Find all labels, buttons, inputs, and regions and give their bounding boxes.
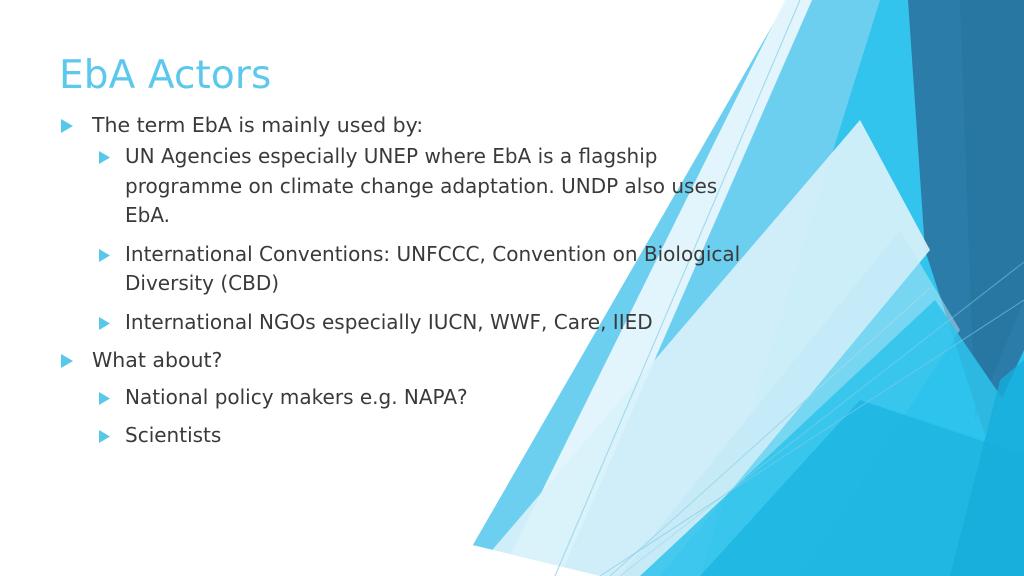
triangle-right-icon [61,119,75,133]
bullet-text: International NGOs especially IUCN, WWF,… [125,308,653,338]
slide-content: EbA Actors The term EbA is mainly used b… [0,0,790,576]
bullet-text: International Conventions: UNFCCC, Conve… [125,240,750,299]
triangle-right-icon [99,430,111,443]
shard-steel-dark-strip [960,0,1024,420]
bullet-item-level2: International NGOs especially IUCN, WWF,… [0,308,790,338]
slide-title: EbA Actors [59,56,271,97]
bullet-text: Scientists [125,421,221,451]
triangle-right-icon [99,249,111,262]
triangle-right-icon [61,354,75,368]
bullet-text: UN Agencies especially UNEP where EbA is… [125,142,750,231]
slide-body-bullet-list: The term EbA is mainly used by: UN Agenc… [0,110,790,454]
bullet-item-level1: What about? [0,345,790,375]
bullet-item-level2: International Conventions: UNFCCC, Conve… [0,240,790,299]
bullet-item-level2: Scientists [0,421,790,451]
bullet-item-level2: National policy makers e.g. NAPA? [0,383,790,413]
triangle-right-icon [99,151,111,164]
slide-canvas: EbA Actors The term EbA is mainly used b… [0,0,1024,576]
triangle-right-icon [99,317,111,330]
triangle-right-icon [99,392,111,405]
shard-steel-right [905,0,1024,440]
bullet-text: The term EbA is mainly used by: [92,110,423,140]
shard-steel-upper [908,0,1024,435]
bullet-text: What about? [92,345,222,375]
bullet-item-level1: The term EbA is mainly used by: [0,110,790,140]
bullet-item-level2: UN Agencies especially UNEP where EbA is… [0,142,790,231]
shard-cyan-bottom-right [760,330,1024,576]
bullet-text: National policy makers e.g. NAPA? [125,383,468,413]
shard-cyan-sliver-right [950,360,1024,576]
